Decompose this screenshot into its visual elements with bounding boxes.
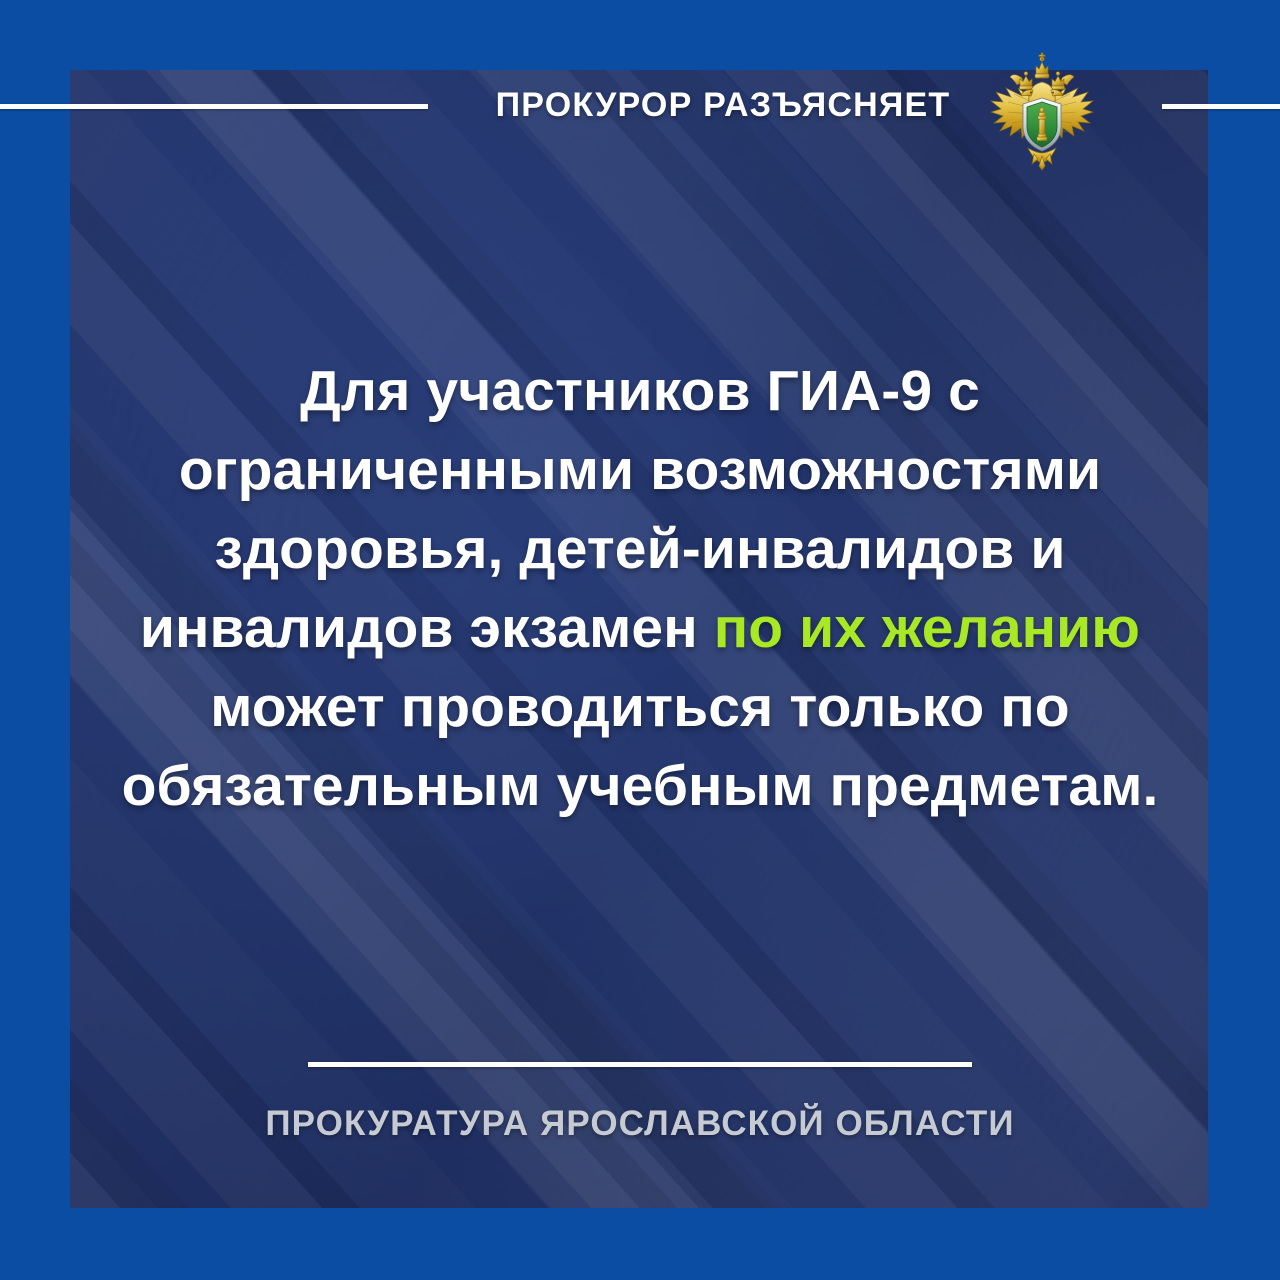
message-highlight: по их желанию — [714, 596, 1140, 660]
footer-divider — [308, 1062, 972, 1067]
header-rule-right — [1162, 104, 1280, 109]
prosecutor-eagle-emblem — [988, 44, 1096, 176]
header-rule-left — [0, 104, 428, 109]
poster-root: ПРОКУРОР РАЗЪЯСНЯЕТ — [0, 0, 1280, 1280]
message-part-after: может проводиться только по обязательным… — [122, 675, 1159, 818]
header-title: ПРОКУРОР РАЗЪЯСНЯЕТ — [478, 82, 968, 128]
header: ПРОКУРОР РАЗЪЯСНЯЕТ — [0, 82, 1280, 174]
footer-organization: ПРОКУРАТУРА ЯРОСЛАВСКОЙ ОБЛАСТИ — [140, 1104, 1140, 1144]
main-message: Для участников ГИА-9 с ограниченными воз… — [110, 352, 1170, 826]
